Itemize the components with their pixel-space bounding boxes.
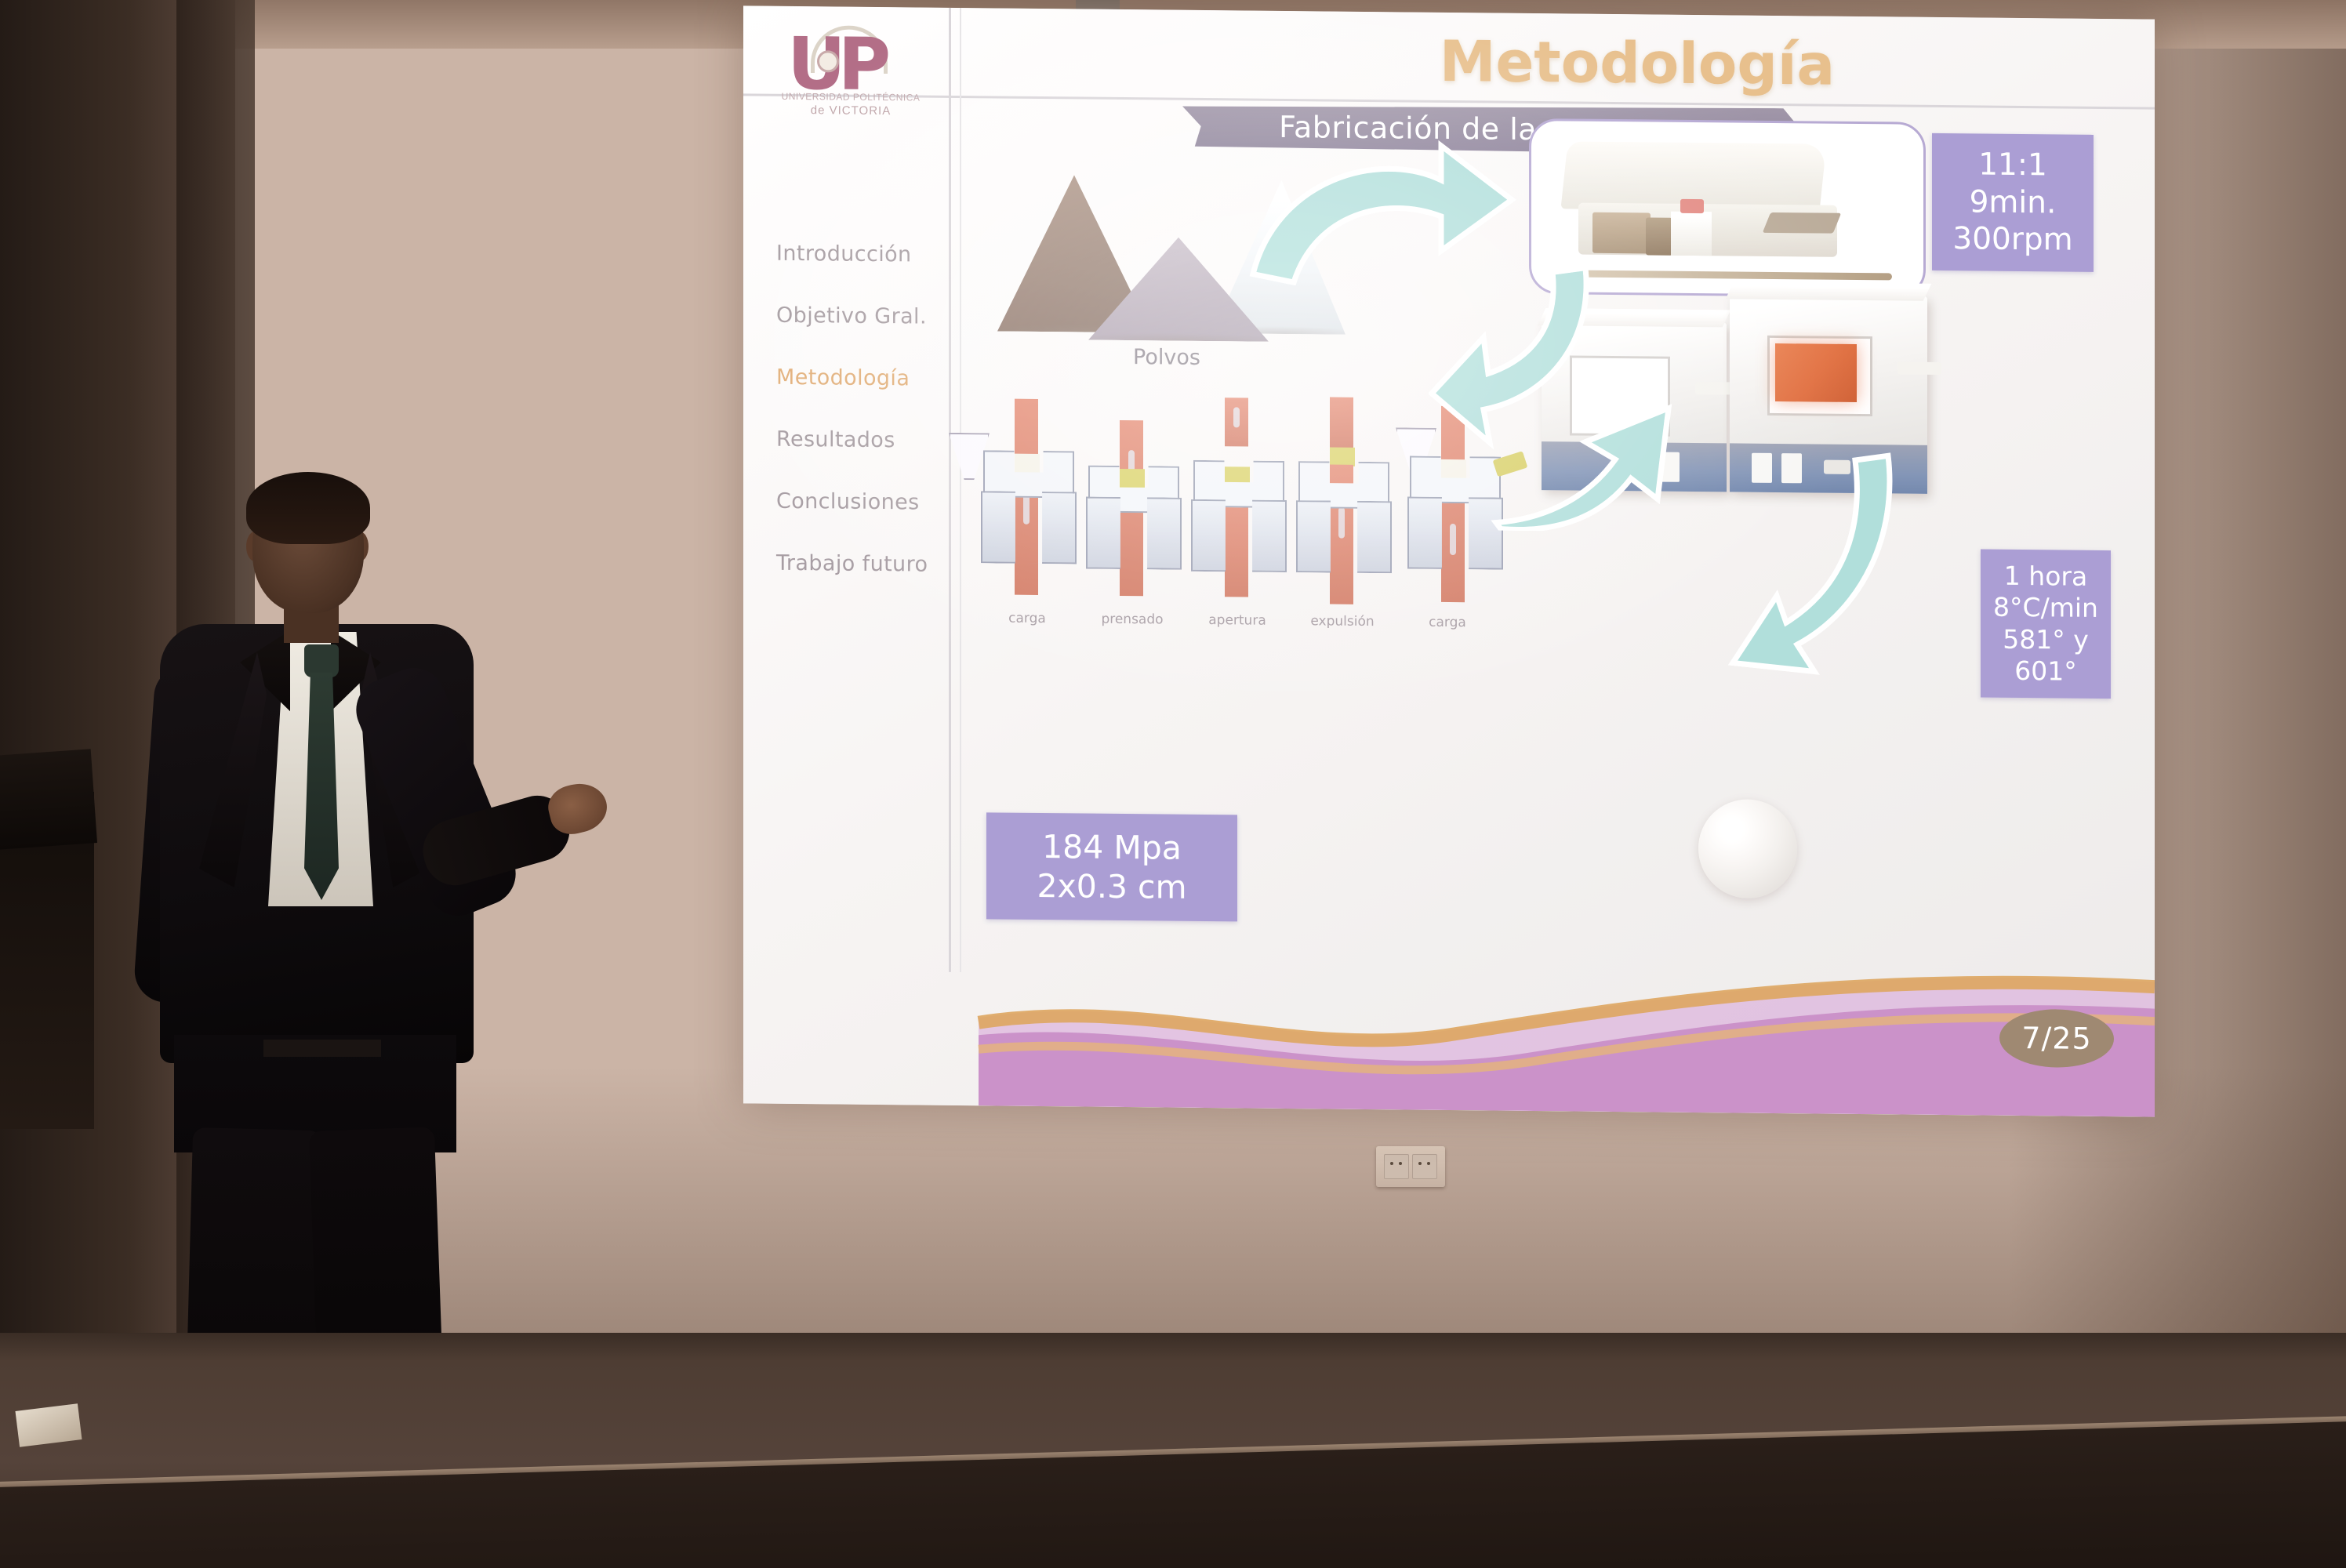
press-stage-label-3: apertura [1189, 612, 1286, 629]
logo-dot-icon [817, 50, 839, 72]
sample-block-2 [1646, 217, 1672, 255]
press-stage-3 [1189, 394, 1286, 607]
press-compact-ejecting [1330, 448, 1355, 466]
furnace-heat-chamber-icon [1775, 343, 1857, 402]
press-punch-upper-raised [1330, 397, 1353, 449]
press-powder [1120, 469, 1145, 488]
nav-item-objetivo-gral[interactable]: Objetivo Gral. [776, 303, 950, 329]
furnace-port [1897, 361, 1941, 375]
arrow-press-to-furnace [1490, 365, 1686, 532]
furnace-top [1726, 281, 1932, 300]
press-stage-label-4: expulsión [1294, 613, 1391, 630]
press-cycle-diagram: carga prensado apertura [979, 392, 1496, 624]
sample-vial [1671, 212, 1712, 256]
presenter [102, 470, 525, 1411]
lecture-room-photo: UP UNIVERSIDAD POLITÉCNICA de VICTORIA M… [0, 0, 2346, 1568]
presentation-slide: UP UNIVERSIDAD POLITÉCNICA de VICTORIA M… [743, 5, 2155, 1116]
podium [0, 749, 97, 850]
nav-item-conclusiones[interactable]: Conclusiones [776, 489, 950, 515]
press-stage-label-1: carga [979, 610, 1076, 626]
sintered-sample-sphere [1698, 799, 1797, 898]
sintering-duration: 1 hora [1987, 561, 2104, 593]
presenter-tie [304, 673, 339, 900]
nav-item-metodologia[interactable]: Metodología [776, 365, 950, 391]
milling-time: 9min. [1938, 183, 2087, 222]
university-logo: UP UNIVERSIDAD POLITÉCNICA de VICTORIA [776, 24, 925, 119]
sintering-temp-1: 581° y [1987, 623, 2104, 656]
sample-block [1592, 212, 1651, 254]
nav-item-resultados[interactable]: Resultados [776, 427, 950, 453]
page-indicator: 7/25 [1999, 1009, 2114, 1068]
press-punch-upper-raised [1225, 397, 1248, 446]
callout-milling-params: 11:1 9min. 300rpm [1932, 133, 2094, 272]
press-stage-1 [979, 392, 1076, 604]
logo-line1: UNIVERSIDAD POLITÉCNICA [778, 91, 924, 103]
nav-item-introduccion[interactable]: Introducción [776, 241, 950, 267]
pressing-dimensions: 2x0.3 cm [994, 866, 1229, 907]
arrow-furnace-to-sample [1714, 446, 1902, 683]
paper-on-desk [15, 1403, 82, 1446]
milling-speed: 300rpm [1938, 220, 2087, 259]
sidebar-divider-2 [960, 8, 961, 972]
milling-ratio: 11:1 [1938, 146, 2087, 184]
sample-vial-cap [1680, 199, 1704, 213]
press-stage-2 [1084, 394, 1181, 606]
logo-line2: de VICTORIA [778, 103, 924, 118]
press-stage-4 [1294, 395, 1391, 608]
sintering-temp-2: 601° [1987, 655, 2104, 688]
nav-item-trabajo-futuro[interactable]: Trabajo futuro [776, 551, 950, 577]
callout-pressing-params: 184 Mpa 2x0.3 cm [986, 812, 1237, 921]
slide-outline-nav: Introducción Objetivo Gral. Metodología … [776, 241, 950, 615]
presenter-belt [263, 1040, 381, 1057]
pressing-pressure: 184 Mpa [994, 826, 1229, 868]
callout-sintering-params: 1 hora 8°C/min 581° y 601° [1981, 550, 2111, 699]
wall-outlet-icon [1376, 1146, 1445, 1187]
press-stage-label-5: carga [1399, 614, 1496, 630]
balance-pan [1763, 212, 1842, 234]
slide-title: Metodología [1245, 27, 2029, 100]
presenter-hair [246, 472, 370, 544]
sintering-rate: 8°C/min [1987, 592, 2104, 625]
press-stage-label-2: prensado [1084, 612, 1181, 628]
powders-label: Polvos [1073, 344, 1261, 370]
slide-footer-wave: 7/25 [743, 923, 2155, 1116]
presenter-tie-knot [304, 644, 339, 677]
projection-screen: UP UNIVERSIDAD POLITÉCNICA de VICTORIA M… [743, 5, 2155, 1116]
